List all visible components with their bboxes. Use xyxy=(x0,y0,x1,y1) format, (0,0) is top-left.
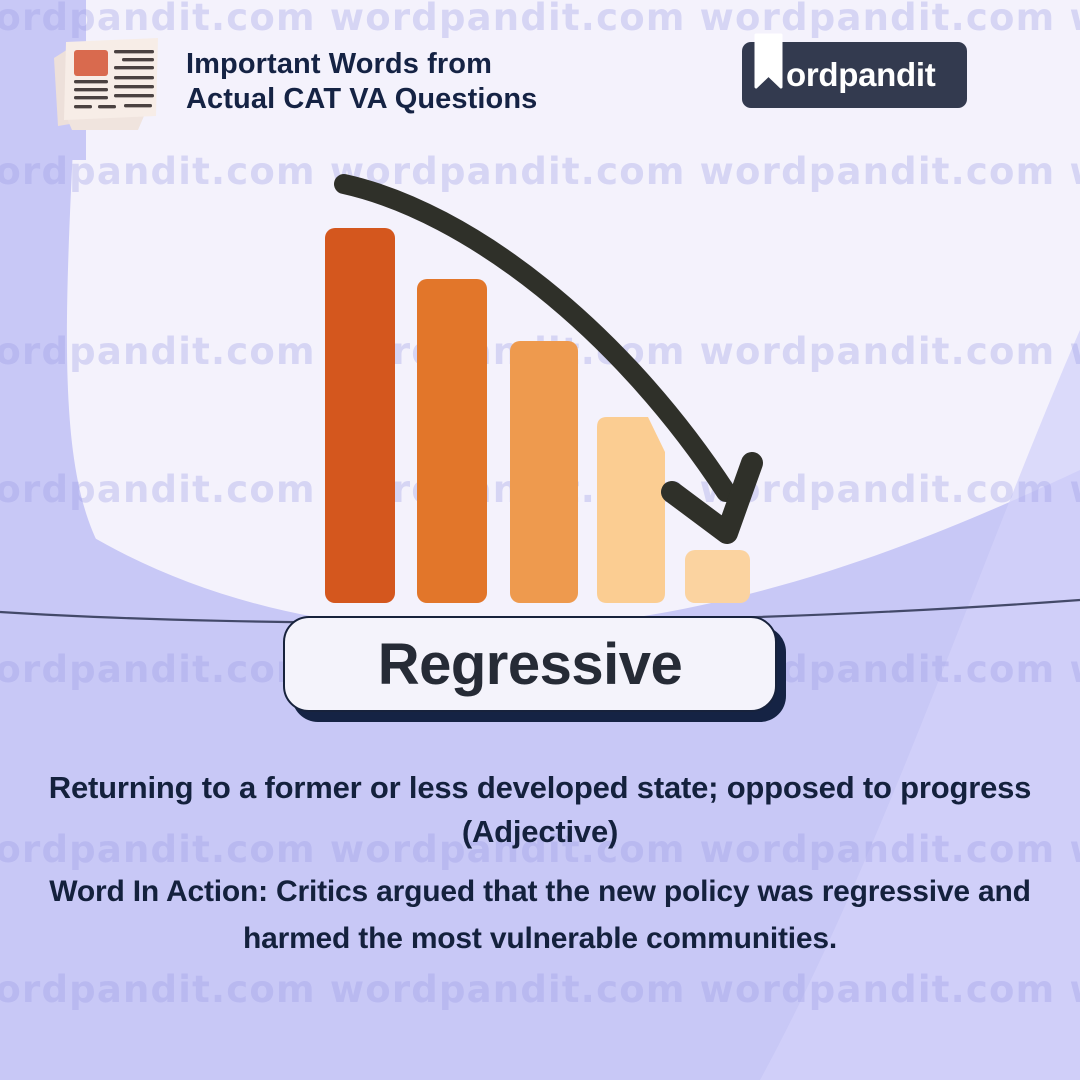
bar-2 xyxy=(417,279,487,603)
word-card[interactable]: Regressive xyxy=(283,616,801,722)
bookmark-icon xyxy=(754,33,783,91)
bar-4 xyxy=(597,417,665,603)
bar-1 xyxy=(325,228,395,603)
word-card-face[interactable]: Regressive xyxy=(283,616,777,712)
page-title: Important Words from Actual CAT VA Quest… xyxy=(186,47,537,117)
definition-block: Returning to a former or less developed … xyxy=(24,766,1056,962)
brand-name: ordpandit xyxy=(786,56,935,94)
newspaper-icon xyxy=(48,30,164,134)
word-meaning: Returning to a former or less developed … xyxy=(24,766,1056,854)
brand-logo[interactable]: ordpandit xyxy=(742,42,967,108)
bar-5 xyxy=(685,550,750,603)
vocabulary-word: Regressive xyxy=(378,631,683,698)
word-card-graphic: wordpandit.com wordpandit.com wordpandit… xyxy=(0,0,1080,1080)
bar-3 xyxy=(510,341,578,603)
word-in-action-sentence: Word In Action: Critics argued that the … xyxy=(24,868,1056,962)
header: Important Words from Actual CAT VA Quest… xyxy=(0,0,1080,145)
